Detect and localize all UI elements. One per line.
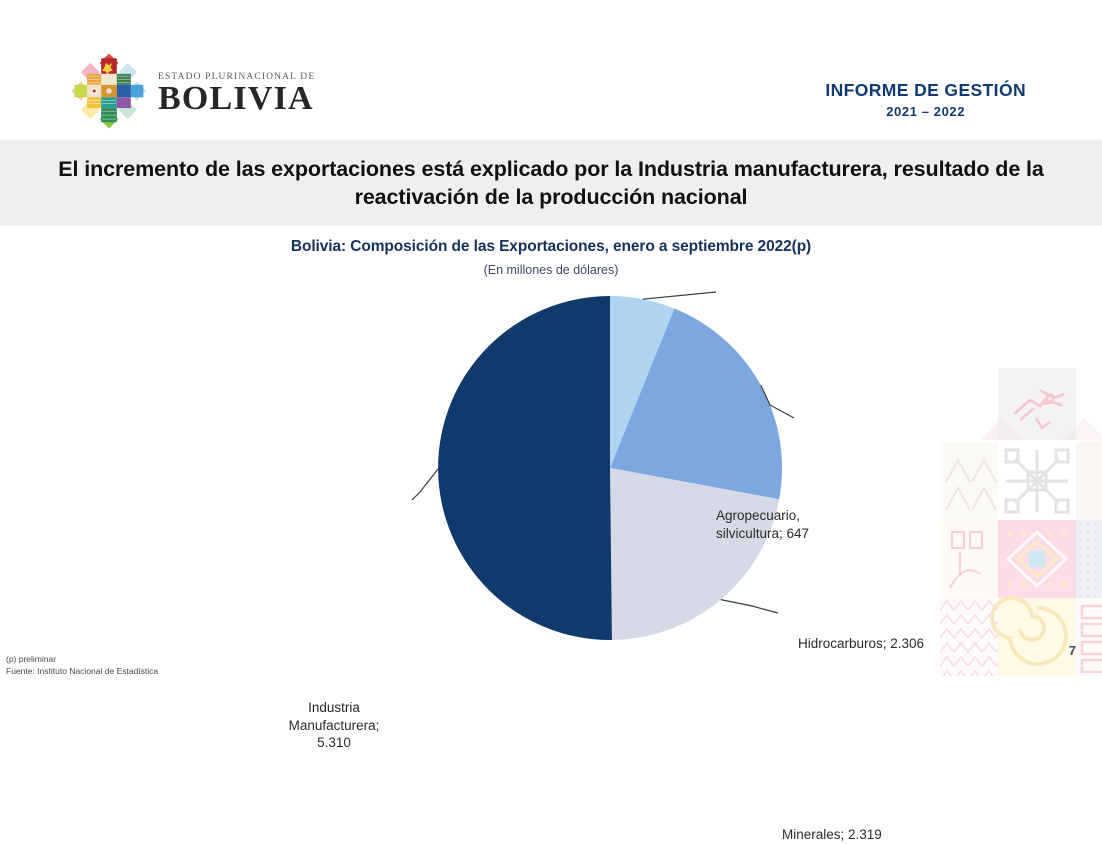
pie-leader-line: [761, 385, 794, 418]
pie-leader-line: [721, 600, 778, 613]
pie-label-minerales: Minerales; 2.319: [782, 826, 882, 844]
footnote-source: Fuente: Instituto Nacional de Estadístic…: [6, 665, 158, 677]
pie-leader-line: [643, 292, 716, 299]
report-title: INFORME DE GESTIÓN: [825, 80, 1026, 101]
pie-slice: [610, 296, 674, 468]
pie-slices: [438, 296, 782, 640]
pie-slice: [438, 296, 612, 640]
headline-text: El incremento de las exportaciones está …: [36, 155, 1066, 212]
slide-header: ESTADO PLURINACIONAL DE BOLIVIA INFORME …: [0, 0, 1102, 140]
pie-leader-line: [412, 469, 438, 500]
page-number: 7: [1069, 643, 1076, 658]
bolivia-brand-logo: ESTADO PLURINACIONAL DE BOLIVIA: [70, 52, 315, 130]
bolivia-aguayo-emblem-icon: [70, 52, 148, 130]
pie-slice: [610, 468, 779, 640]
footnotes: (p) preliminar Fuente: Instituto Naciona…: [6, 653, 158, 678]
chart-title: Bolivia: Composición de las Exportacione…: [0, 226, 1102, 256]
brand-country-name: BOLIVIA: [158, 82, 315, 117]
pie-chart: [0, 226, 1102, 646]
pie-label-agropecuario: Agropecuario, silvicultura; 647: [716, 507, 809, 542]
report-title-block: INFORME DE GESTIÓN 2021 – 2022: [825, 80, 1026, 119]
chart-subtitle: (En millones de dólares): [0, 256, 1102, 277]
brand-wordmark: ESTADO PLURINACIONAL DE BOLIVIA: [158, 66, 315, 117]
pie-slice: [610, 309, 782, 500]
footnote-preliminary: (p) preliminar: [6, 653, 158, 665]
slide: ESTADO PLURINACIONAL DE BOLIVIA INFORME …: [0, 0, 1102, 736]
report-period: 2021 – 2022: [825, 104, 1026, 119]
headline-band: El incremento de las exportaciones está …: [0, 140, 1102, 226]
pie-label-hidrocarburos: Hidrocarburos; 2.306: [798, 635, 924, 653]
chart-block: Bolivia: Composición de las Exportacione…: [0, 226, 1102, 646]
pie-label-industria-manufacturera: Industria Manufacturera; 5.310: [258, 699, 410, 752]
